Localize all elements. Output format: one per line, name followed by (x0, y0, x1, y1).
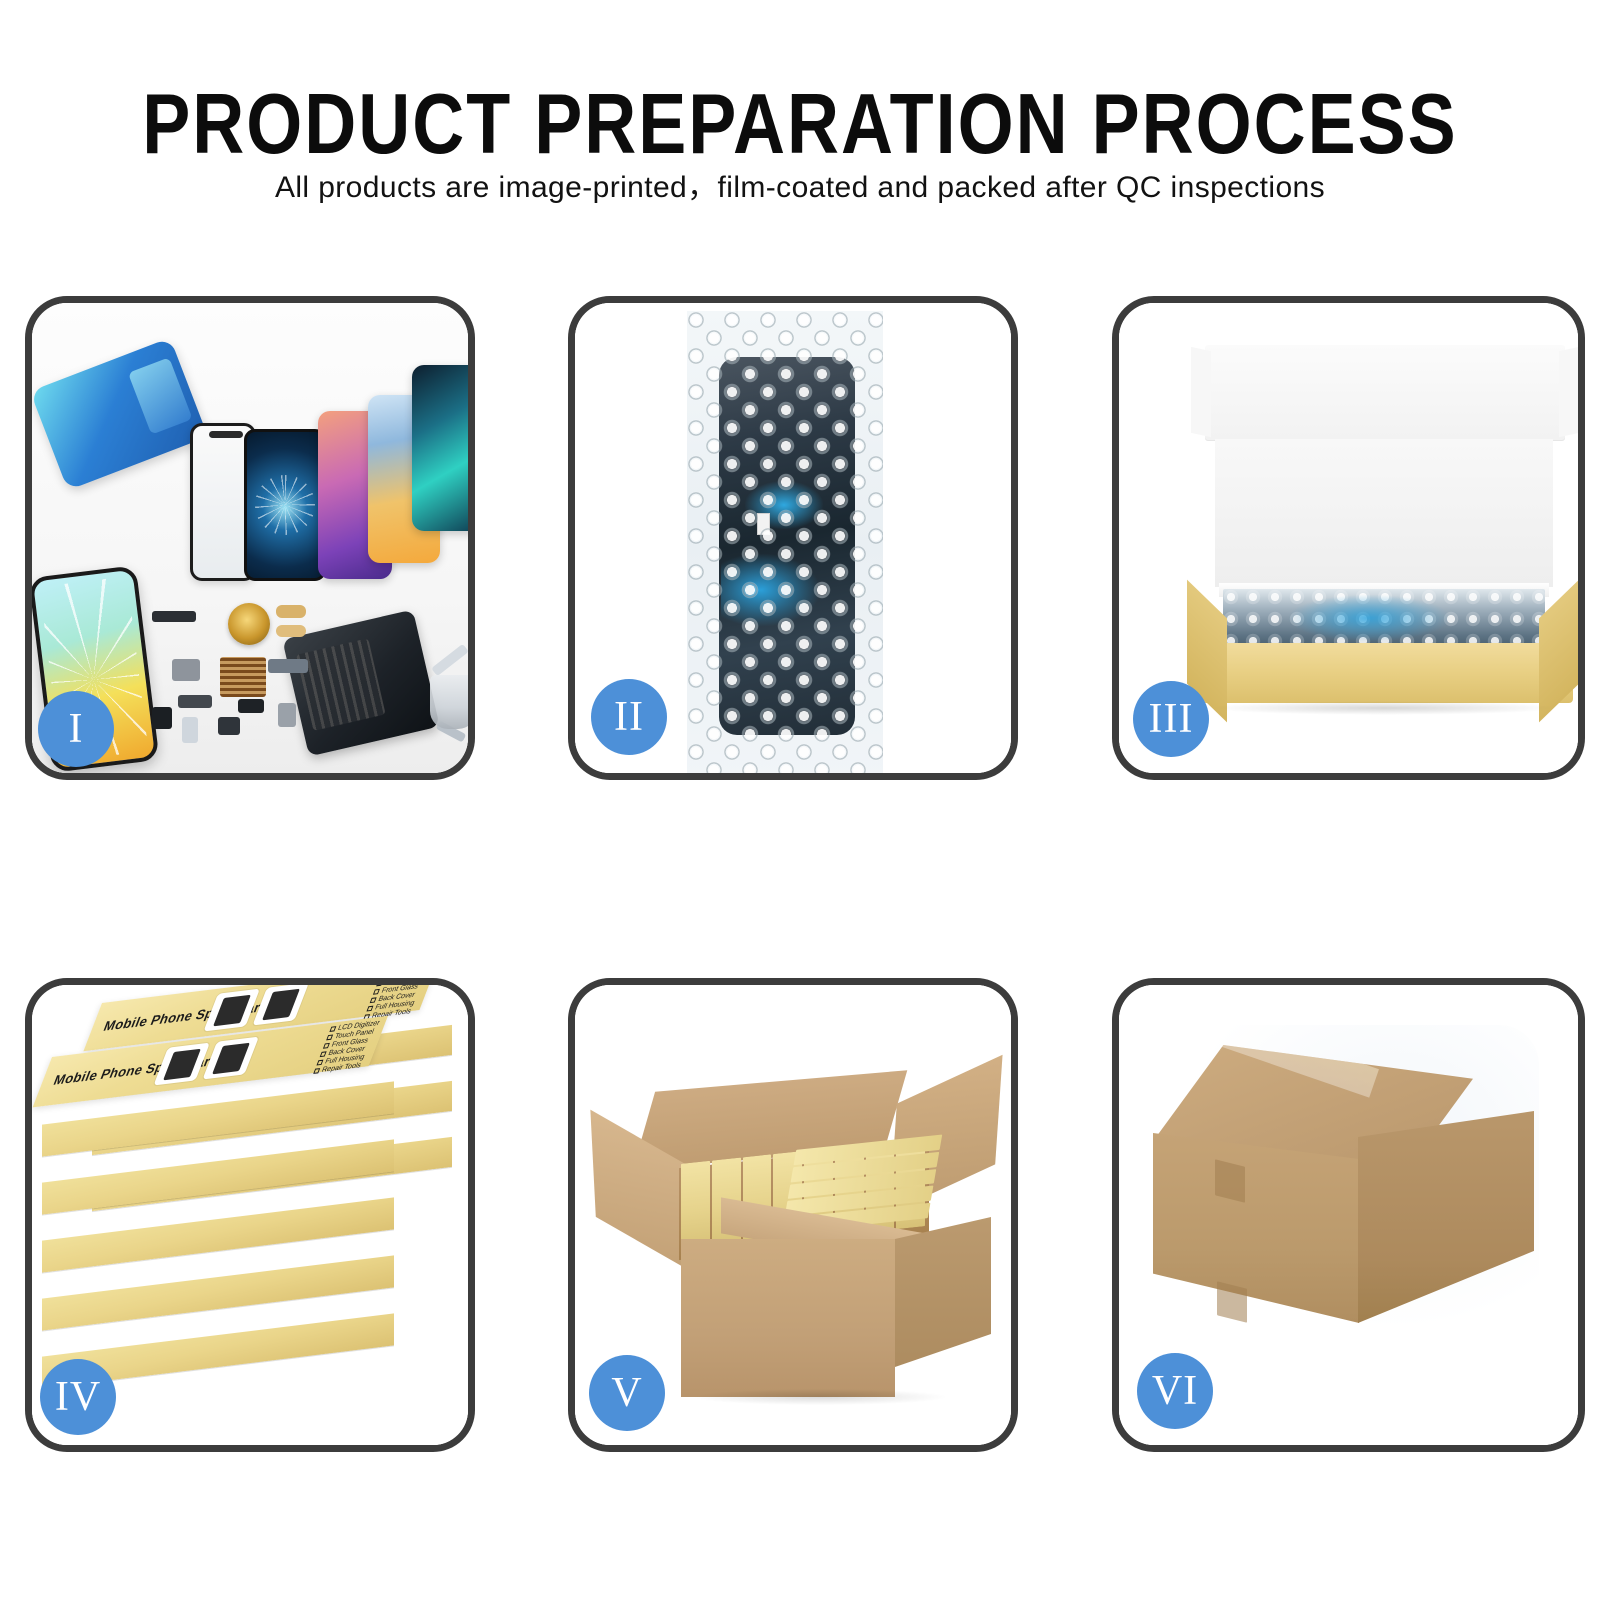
checkbox-icon (313, 1068, 320, 1074)
flex-cable-2 (276, 625, 306, 637)
step-badge-1: I (38, 691, 114, 767)
vibrator-motor (238, 699, 264, 713)
power-flex (178, 695, 212, 708)
checkbox-icon (319, 1051, 326, 1057)
checkbox-icon (366, 1006, 373, 1012)
step-badge-5: V (589, 1355, 665, 1431)
step-panel-4: Mobile Phone Spare Parts LCD Digitizer T… (25, 978, 475, 1452)
step-badge-4: IV (40, 1359, 116, 1435)
connector-part (218, 717, 240, 735)
bubble-wrap-sheet (687, 311, 883, 773)
product-blue-glow (1289, 595, 1449, 641)
blue-adhesive-frame (32, 338, 208, 491)
step-panel-3: III (1112, 296, 1585, 780)
phone-thumbnail (153, 1043, 210, 1086)
small-chip (152, 707, 172, 729)
step-panel-2: II (568, 296, 1018, 780)
retail-box-thumbnails-front (153, 1037, 259, 1086)
step-badge-3: III (1133, 681, 1209, 757)
mailer-lid (1205, 345, 1565, 441)
carton-seal-tab-bottom (1217, 1281, 1247, 1322)
step-panel-6: VI (1112, 978, 1585, 1452)
checkbox-icon (326, 1035, 333, 1041)
checkbox-icon (376, 985, 383, 986)
checkbox-icon (323, 1043, 330, 1049)
carton-side-wall (895, 1217, 991, 1367)
cleaning-brush (430, 675, 468, 729)
step-panel-5: V (568, 978, 1018, 1452)
phone-thumbnail (203, 989, 260, 1032)
step-panel-1: I (25, 296, 475, 780)
screwdriver-tool (431, 644, 468, 677)
carton-seal-tab-top (1215, 1159, 1245, 1202)
retail-box-checklist-front: LCD Digitizer Touch Panel Front Glass Ba… (313, 1020, 381, 1075)
mailer-drop-shadow (1209, 701, 1559, 715)
earpiece-mesh (278, 703, 296, 727)
carton-drop-shadow (695, 1389, 945, 1405)
phone-thumbnail (202, 1037, 259, 1080)
camera-module (172, 659, 200, 681)
retail-box-thumbnails-rear (203, 985, 309, 1032)
cracked-lcd-screen (244, 429, 326, 581)
wireless-charging-coil (228, 603, 270, 645)
checkbox-icon (329, 1026, 336, 1032)
checkbox-icon (373, 989, 380, 995)
sim-tray (182, 717, 198, 743)
phone-thumbnail (252, 985, 309, 1026)
mailer-back-panel (1215, 439, 1553, 587)
bubble-outlines (687, 311, 883, 773)
flex-cable-1 (276, 605, 306, 618)
checkbox-icon (316, 1060, 323, 1066)
speaker-module (152, 611, 196, 622)
process-step-grid: I II (0, 0, 1600, 1600)
teal-screen-phone (412, 365, 468, 531)
mailer-front-wall (1193, 643, 1573, 703)
step-badge-2: II (591, 679, 667, 755)
retail-box-checklist-rear: LCD Digitizer Touch Panel Front Glass Ba… (363, 985, 431, 1021)
volume-flex (268, 659, 308, 673)
step-badge-6: VI (1137, 1353, 1213, 1429)
checkbox-icon (369, 997, 376, 1003)
chip-array (220, 657, 266, 697)
carton-front-wall (681, 1239, 895, 1397)
infographic-page: PRODUCT PREPARATION PROCESS All products… (0, 0, 1600, 1600)
